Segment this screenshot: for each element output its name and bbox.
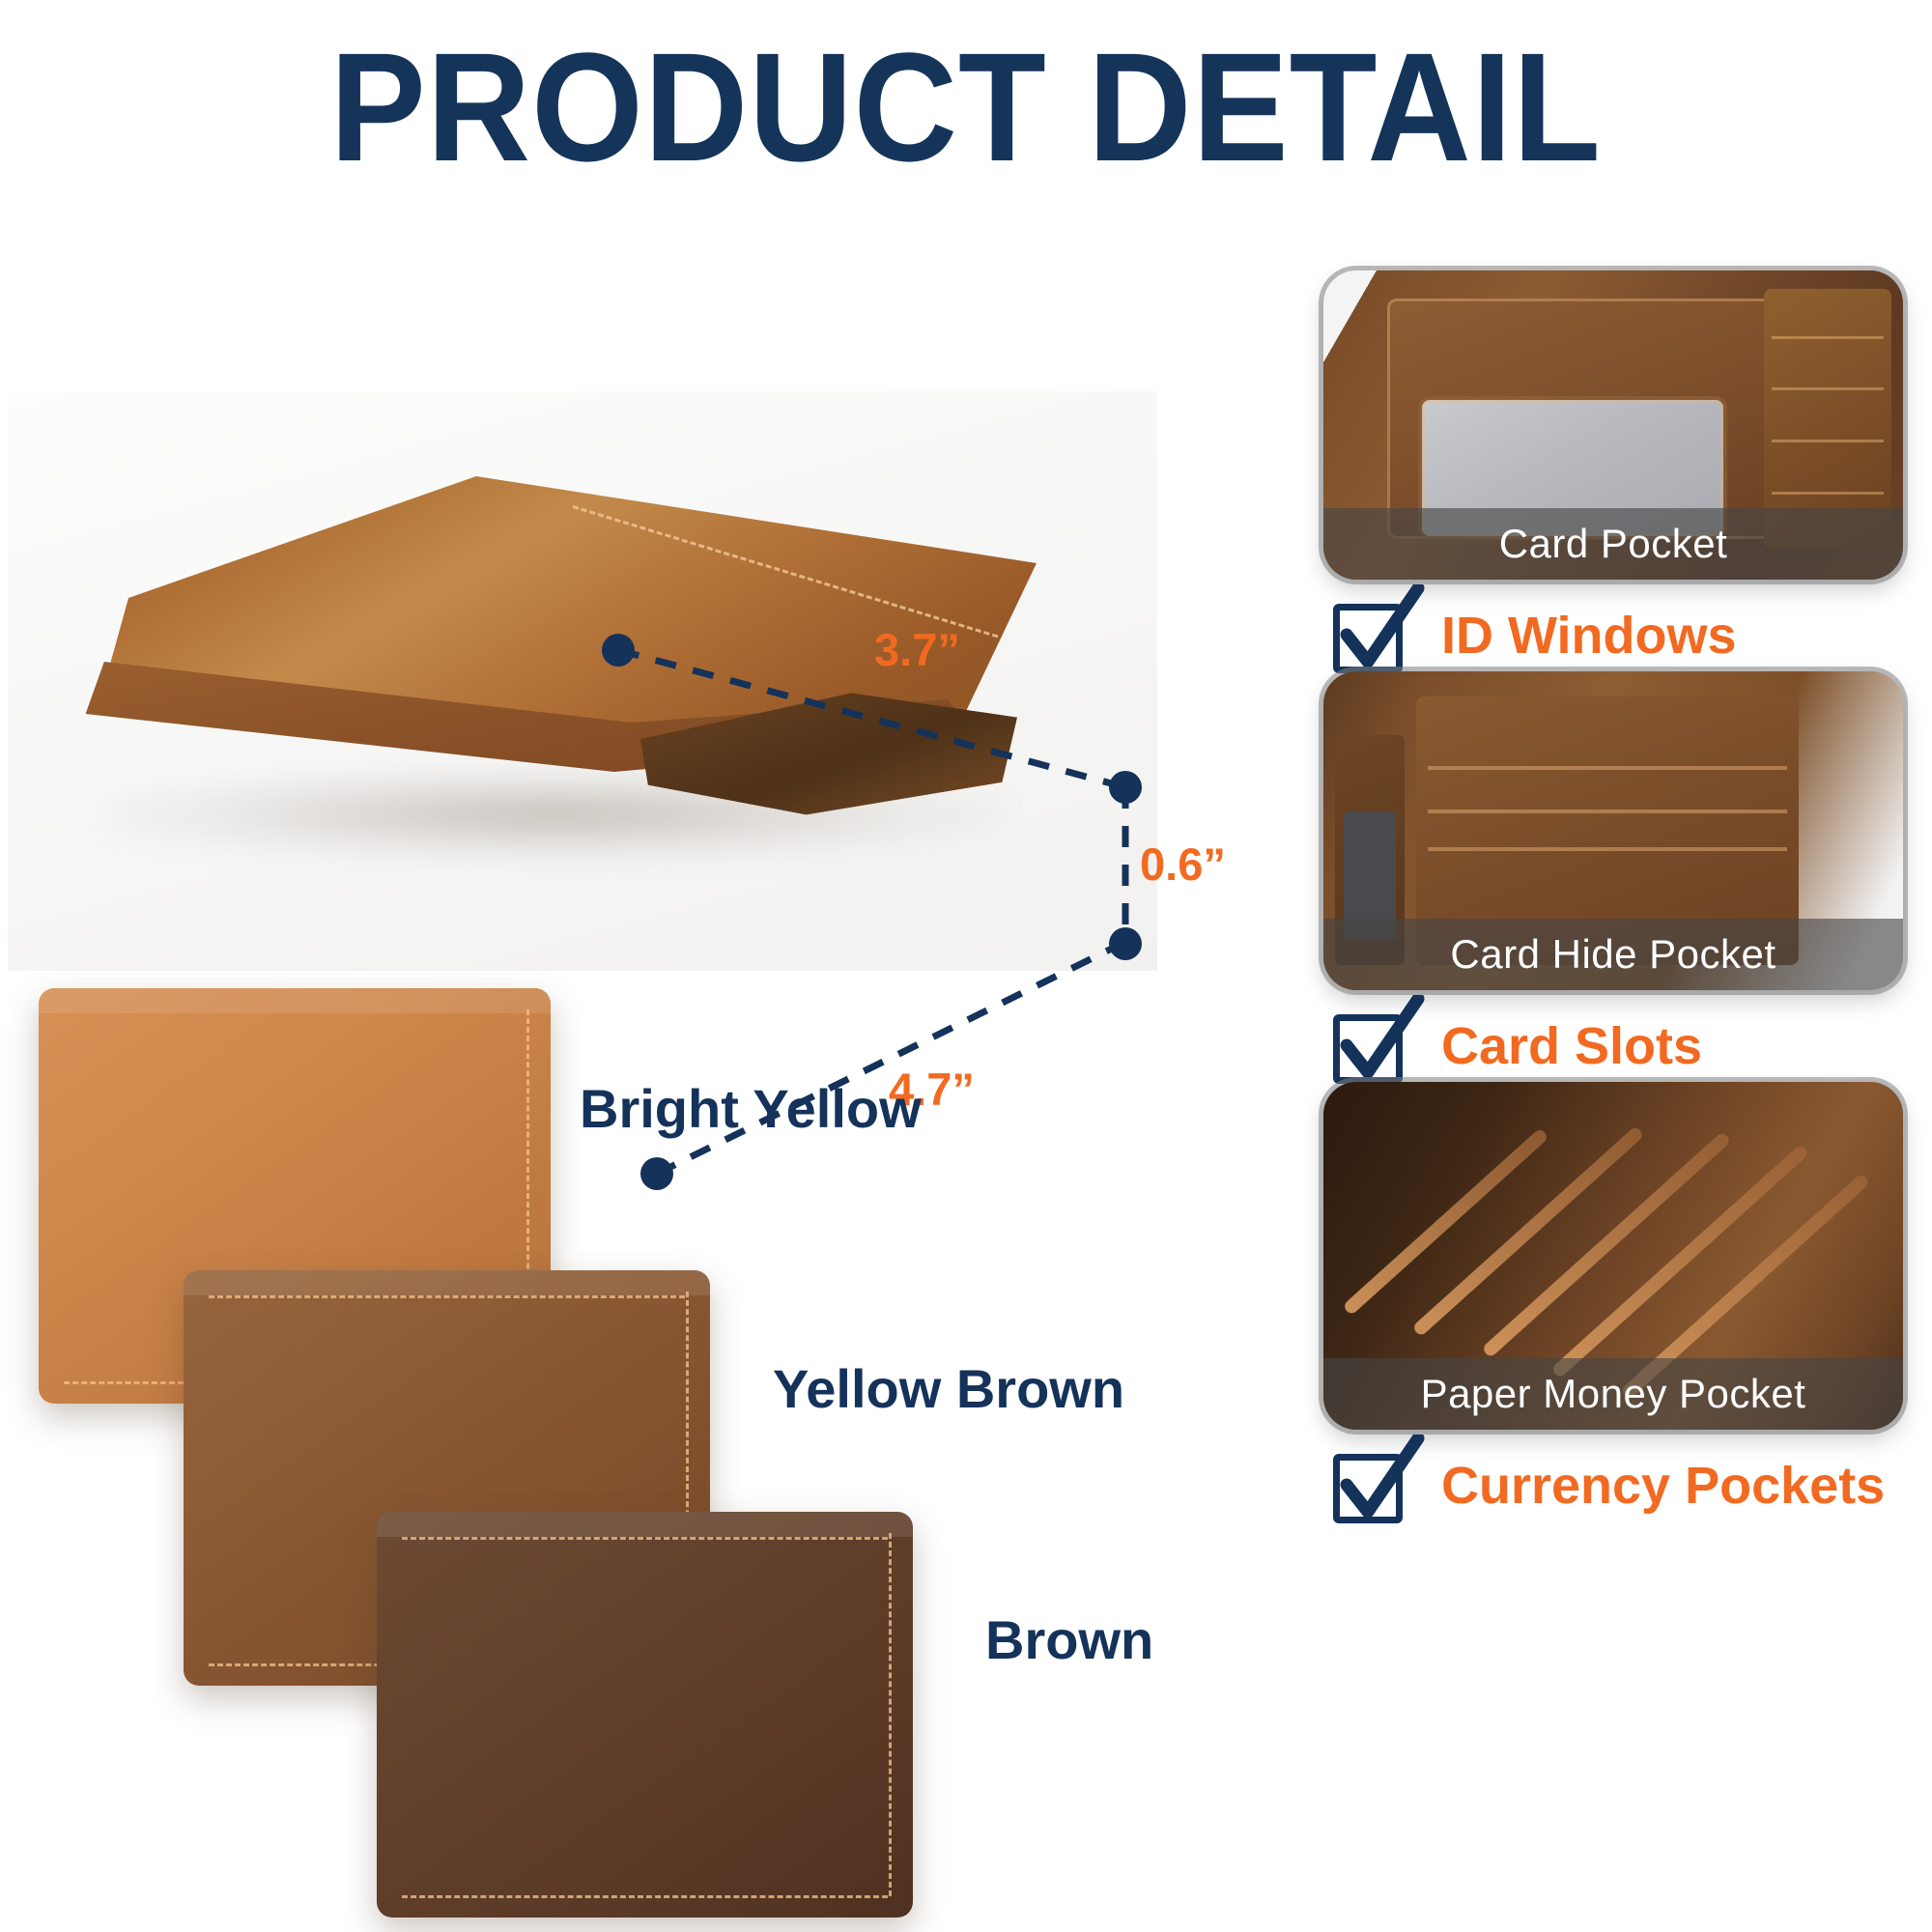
color-label-brown: Brown <box>985 1608 1153 1671</box>
color-label-bright-yellow: Bright Yellow <box>580 1077 922 1140</box>
dimension-callout-lines <box>0 208 1285 1000</box>
color-swatch-brown[interactable] <box>377 1512 913 1918</box>
swatch-spine <box>377 1512 913 1537</box>
dimension-endpoint-dot <box>602 634 635 667</box>
feature-card-card-pocket[interactable]: Card Pocket <box>1323 270 1903 580</box>
caption-bar: Paper Money Pocket <box>1323 1358 1903 1430</box>
feature-label-id-windows: ID Windows <box>1441 610 1737 662</box>
left-column: 3.7” 0.6” 4.7” Bright Yellow Yellow Brow… <box>0 208 1285 1932</box>
feature-card-card-hide-pocket[interactable]: Card Hide Pocket <box>1323 671 1903 990</box>
feature-row-id-windows[interactable]: ID Windows <box>1323 589 1922 682</box>
checkbox-checked-icon[interactable] <box>1333 598 1408 673</box>
checkbox-checked-icon[interactable] <box>1333 1009 1408 1084</box>
stitch-line <box>889 1533 892 1896</box>
caption-bar: Card Hide Pocket <box>1323 919 1903 990</box>
feature-label-card-slots: Card Slots <box>1441 1020 1702 1072</box>
swatch-spine <box>184 1270 710 1295</box>
card-caption: Card Pocket <box>1499 521 1728 567</box>
dimension-depth-label: 0.6” <box>1140 838 1226 891</box>
card-caption: Card Hide Pocket <box>1450 931 1776 978</box>
feature-row-currency-pockets[interactable]: Currency Pockets <box>1323 1439 1922 1532</box>
right-column: Card Pocket ID Windows Card Hide Pocket <box>1323 270 1922 1932</box>
color-label-yellow-brown: Yellow Brown <box>773 1357 1124 1420</box>
feature-row-card-slots[interactable]: Card Slots <box>1323 1000 1922 1093</box>
page-title: PRODUCT DETAIL <box>330 30 1602 185</box>
stitch-line <box>402 1895 888 1898</box>
swatch-face <box>377 1512 913 1918</box>
stitch-line <box>209 1295 685 1298</box>
dimension-endpoint-dot <box>1109 927 1142 960</box>
caption-bar: Card Pocket <box>1323 508 1903 580</box>
dimension-endpoint-dot <box>1109 771 1142 804</box>
page-header: PRODUCT DETAIL <box>0 17 1932 196</box>
color-options-group: Bright Yellow Yellow Brown Brown <box>0 980 1285 1932</box>
feature-label-currency-pockets: Currency Pockets <box>1441 1460 1885 1512</box>
dimension-width-label: 3.7” <box>874 623 960 676</box>
checkbox-checked-icon[interactable] <box>1333 1448 1408 1523</box>
card-caption: Paper Money Pocket <box>1421 1371 1806 1417</box>
swatch-spine <box>39 988 551 1013</box>
feature-card-paper-money-pocket[interactable]: Paper Money Pocket <box>1323 1082 1903 1430</box>
stitch-line <box>402 1537 888 1540</box>
